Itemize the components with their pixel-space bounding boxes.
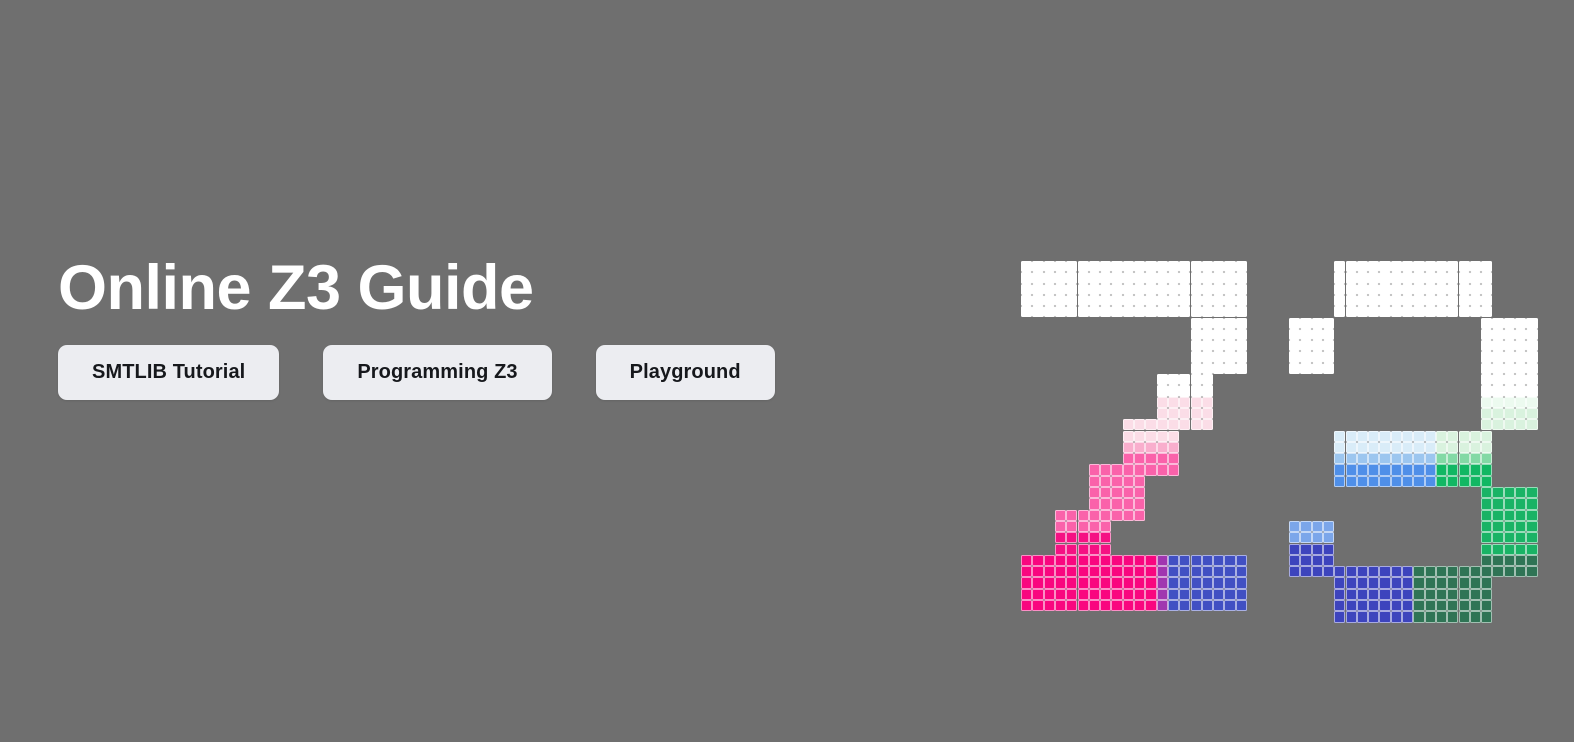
logo-pixel	[1066, 555, 1077, 566]
logo-pixel	[1436, 611, 1447, 622]
logo-pixel	[1191, 374, 1202, 385]
logo-pixel	[1436, 566, 1447, 577]
logo-pixel	[1481, 306, 1492, 317]
logo-pixel	[1492, 408, 1503, 419]
logo-pixel	[1157, 566, 1168, 577]
logo-pixel	[1413, 272, 1424, 283]
logo-pixel	[1236, 340, 1247, 351]
logo-pixel	[1391, 442, 1402, 453]
logo-pixel	[1168, 408, 1179, 419]
logo-pixel	[1504, 329, 1515, 340]
logo-pixel	[1168, 385, 1179, 396]
logo-pixel	[1123, 464, 1134, 475]
logo-pixel	[1515, 555, 1526, 566]
logo-pixel	[1044, 555, 1055, 566]
logo-pixel	[1145, 555, 1156, 566]
logo-pixel	[1123, 261, 1134, 272]
logo-pixel	[1526, 385, 1537, 396]
logo-pixel	[1123, 577, 1134, 588]
logo-pixel	[1134, 555, 1145, 566]
logo-pixel	[1066, 577, 1077, 588]
logo-pixel	[1289, 363, 1300, 374]
logo-pixel	[1236, 318, 1247, 329]
logo-pixel	[1168, 306, 1179, 317]
logo-pixel	[1526, 498, 1537, 509]
logo-pixel	[1481, 329, 1492, 340]
logo-pixel	[1504, 318, 1515, 329]
logo-pixel	[1357, 577, 1368, 588]
logo-pixel	[1111, 272, 1122, 283]
logo-pixel	[1066, 295, 1077, 306]
logo-pixel	[1236, 577, 1247, 588]
playground-button[interactable]: Playground	[596, 345, 775, 400]
logo-pixel	[1492, 329, 1503, 340]
logo-pixel	[1312, 532, 1323, 543]
logo-pixel	[1168, 464, 1179, 475]
logo-pixel	[1504, 374, 1515, 385]
logo-pixel	[1515, 363, 1526, 374]
logo-pixel	[1300, 340, 1311, 351]
logo-pixel	[1078, 577, 1089, 588]
logo-pixel	[1459, 295, 1470, 306]
logo-pixel	[1134, 498, 1145, 509]
logo-pixel	[1481, 589, 1492, 600]
logo-pixel	[1111, 510, 1122, 521]
logo-pixel	[1368, 577, 1379, 588]
logo-pixel	[1436, 577, 1447, 588]
logo-pixel	[1168, 419, 1179, 430]
logo-pixel	[1157, 577, 1168, 588]
logo-pixel	[1436, 600, 1447, 611]
logo-pixel	[1157, 555, 1168, 566]
logo-pixel	[1078, 284, 1089, 295]
logo-pixel	[1481, 544, 1492, 555]
logo-pixel	[1368, 284, 1379, 295]
logo-pixel	[1379, 476, 1390, 487]
logo-pixel	[1346, 306, 1357, 317]
logo-pixel	[1157, 397, 1168, 408]
logo-pixel	[1436, 476, 1447, 487]
logo-pixel	[1312, 340, 1323, 351]
logo-pixel	[1157, 431, 1168, 442]
logo-pixel	[1066, 566, 1077, 577]
logo-pixel	[1145, 589, 1156, 600]
logo-pixel	[1168, 374, 1179, 385]
logo-pixel	[1470, 589, 1481, 600]
logo-pixel	[1191, 589, 1202, 600]
logo-pixel	[1379, 577, 1390, 588]
logo-pixel	[1123, 306, 1134, 317]
logo-pixel	[1368, 453, 1379, 464]
logo-pixel	[1515, 351, 1526, 362]
logo-pixel	[1224, 555, 1235, 566]
logo-pixel	[1191, 306, 1202, 317]
logo-pixel	[1145, 566, 1156, 577]
logo-pixel	[1179, 306, 1190, 317]
logo-pixel	[1357, 284, 1368, 295]
logo-pixel	[1111, 555, 1122, 566]
logo-pixel	[1134, 589, 1145, 600]
logo-pixel	[1323, 318, 1334, 329]
logo-pixel	[1312, 318, 1323, 329]
logo-pixel	[1179, 555, 1190, 566]
logo-pixel	[1526, 363, 1537, 374]
logo-pixel	[1379, 453, 1390, 464]
logo-pixel	[1157, 272, 1168, 283]
logo-pixel	[1021, 555, 1032, 566]
logo-pixel	[1157, 464, 1168, 475]
logo-pixel	[1078, 555, 1089, 566]
logo-pixel	[1032, 555, 1043, 566]
logo-pixel	[1145, 600, 1156, 611]
logo-pixel	[1089, 544, 1100, 555]
logo-pixel	[1224, 284, 1235, 295]
logo-pixel	[1447, 442, 1458, 453]
logo-pixel	[1436, 272, 1447, 283]
logo-pixel	[1402, 589, 1413, 600]
logo-pixel	[1334, 261, 1345, 272]
logo-pixel	[1481, 464, 1492, 475]
logo-pixel	[1447, 589, 1458, 600]
logo-pixel	[1391, 600, 1402, 611]
logo-pixel	[1111, 566, 1122, 577]
logo-pixel	[1236, 589, 1247, 600]
logo-pixel	[1492, 363, 1503, 374]
logo-pixel	[1168, 397, 1179, 408]
logo-pixel	[1515, 397, 1526, 408]
logo-pixel	[1055, 566, 1066, 577]
logo-pixel	[1357, 600, 1368, 611]
logo-pixel	[1202, 363, 1213, 374]
logo-pixel	[1300, 329, 1311, 340]
logo-pixel	[1357, 453, 1368, 464]
logo-pixel	[1066, 589, 1077, 600]
logo-pixel	[1402, 295, 1413, 306]
logo-pixel	[1357, 295, 1368, 306]
logo-pixel	[1134, 566, 1145, 577]
logo-pixel	[1078, 295, 1089, 306]
logo-pixel	[1459, 600, 1470, 611]
logo-pixel	[1504, 544, 1515, 555]
logo-pixel	[1123, 453, 1134, 464]
logo-pixel	[1459, 431, 1470, 442]
logo-pixel	[1379, 600, 1390, 611]
logo-pixel	[1425, 600, 1436, 611]
logo-pixel	[1289, 329, 1300, 340]
z3-pixel-logo	[1021, 261, 1521, 581]
logo-pixel	[1492, 532, 1503, 543]
logo-pixel	[1021, 600, 1032, 611]
logo-pixel	[1202, 419, 1213, 430]
logo-pixel	[1289, 521, 1300, 532]
logo-pixel	[1481, 408, 1492, 419]
logo-pixel	[1459, 442, 1470, 453]
logo-pixel	[1100, 487, 1111, 498]
logo-pixel	[1515, 385, 1526, 396]
logo-pixel	[1300, 555, 1311, 566]
logo-pixel	[1368, 464, 1379, 475]
logo-pixel	[1526, 329, 1537, 340]
logo-pixel	[1111, 464, 1122, 475]
logo-pixel	[1179, 284, 1190, 295]
logo-pixel	[1089, 261, 1100, 272]
logo-pixel	[1236, 600, 1247, 611]
logo-pixel	[1323, 555, 1334, 566]
logo-pixel	[1224, 577, 1235, 588]
logo-pixel	[1391, 611, 1402, 622]
logo-pixel	[1346, 476, 1357, 487]
logo-pixel	[1055, 577, 1066, 588]
logo-pixel	[1413, 464, 1424, 475]
logo-pixel	[1391, 453, 1402, 464]
logo-pixel	[1447, 453, 1458, 464]
logo-pixel	[1504, 419, 1515, 430]
logo-pixel	[1213, 577, 1224, 588]
logo-pixel	[1459, 589, 1470, 600]
logo-pixel	[1504, 351, 1515, 362]
logo-pixel	[1100, 476, 1111, 487]
logo-pixel	[1055, 284, 1066, 295]
logo-pixel	[1425, 261, 1436, 272]
logo-pixel	[1179, 419, 1190, 430]
logo-pixel	[1202, 374, 1213, 385]
logo-pixel	[1425, 566, 1436, 577]
logo-pixel	[1459, 566, 1470, 577]
logo-pixel	[1123, 498, 1134, 509]
logo-pixel	[1236, 351, 1247, 362]
logo-pixel	[1123, 419, 1134, 430]
logo-pixel	[1481, 555, 1492, 566]
logo-pixel	[1357, 566, 1368, 577]
logo-pixel	[1224, 566, 1235, 577]
logo-pixel	[1312, 329, 1323, 340]
logo-pixel	[1459, 453, 1470, 464]
logo-pixel	[1323, 340, 1334, 351]
logo-pixel	[1213, 589, 1224, 600]
logo-pixel	[1334, 306, 1345, 317]
page-title: Online Z3 Guide	[58, 255, 958, 321]
logo-pixel	[1123, 476, 1134, 487]
logo-pixel	[1055, 555, 1066, 566]
logo-pixel	[1055, 272, 1066, 283]
logo-pixel	[1078, 544, 1089, 555]
logo-pixel	[1515, 419, 1526, 430]
logo-pixel	[1436, 431, 1447, 442]
logo-pixel	[1526, 521, 1537, 532]
logo-pixel	[1481, 498, 1492, 509]
logo-pixel	[1089, 464, 1100, 475]
logo-pixel	[1202, 351, 1213, 362]
logo-pixel	[1459, 464, 1470, 475]
logo-pixel	[1213, 351, 1224, 362]
logo-pixel	[1134, 476, 1145, 487]
logo-pixel	[1379, 611, 1390, 622]
logo-pixel	[1089, 487, 1100, 498]
logo-pixel	[1179, 295, 1190, 306]
logo-pixel	[1459, 577, 1470, 588]
logo-pixel	[1481, 419, 1492, 430]
logo-pixel	[1202, 340, 1213, 351]
logo-pixel	[1379, 442, 1390, 453]
logo-pixel	[1526, 351, 1537, 362]
logo-pixel	[1157, 589, 1168, 600]
logo-pixel	[1191, 295, 1202, 306]
logo-pixel	[1157, 453, 1168, 464]
logo-pixel	[1111, 589, 1122, 600]
logo-pixel	[1168, 555, 1179, 566]
logo-pixel	[1100, 532, 1111, 543]
programming-z3-button[interactable]: Programming Z3	[323, 345, 551, 400]
logo-pixel	[1346, 261, 1357, 272]
logo-pixel	[1504, 385, 1515, 396]
logo-pixel	[1492, 555, 1503, 566]
logo-pixel	[1213, 329, 1224, 340]
logo-pixel	[1492, 340, 1503, 351]
logo-pixel	[1134, 431, 1145, 442]
logo-pixel	[1391, 284, 1402, 295]
logo-pixel	[1470, 600, 1481, 611]
logo-pixel	[1100, 521, 1111, 532]
logo-pixel	[1123, 566, 1134, 577]
logo-pixel	[1413, 453, 1424, 464]
logo-pixel	[1179, 600, 1190, 611]
logo-pixel	[1346, 272, 1357, 283]
logo-pixel	[1044, 589, 1055, 600]
logo-pixel	[1526, 397, 1537, 408]
logo-pixel	[1391, 261, 1402, 272]
logo-pixel	[1055, 295, 1066, 306]
logo-pixel	[1100, 272, 1111, 283]
logo-pixel	[1168, 261, 1179, 272]
logo-pixel	[1078, 589, 1089, 600]
logo-pixel	[1492, 419, 1503, 430]
logo-pixel	[1515, 340, 1526, 351]
logo-pixel	[1224, 363, 1235, 374]
logo-pixel	[1100, 295, 1111, 306]
logo-pixel	[1447, 611, 1458, 622]
logo-pixel	[1481, 577, 1492, 588]
logo-pixel	[1459, 611, 1470, 622]
logo-pixel	[1402, 611, 1413, 622]
logo-pixel	[1346, 577, 1357, 588]
logo-pixel	[1021, 295, 1032, 306]
logo-pixel	[1481, 385, 1492, 396]
logo-pixel	[1111, 295, 1122, 306]
logo-pixel	[1425, 464, 1436, 475]
logo-pixel	[1100, 566, 1111, 577]
logo-pixel	[1111, 498, 1122, 509]
logo-pixel	[1368, 589, 1379, 600]
logo-pixel	[1202, 397, 1213, 408]
logo-pixel	[1492, 318, 1503, 329]
logo-pixel	[1470, 431, 1481, 442]
logo-pixel	[1191, 318, 1202, 329]
logo-pixel	[1357, 476, 1368, 487]
logo-pixel	[1202, 566, 1213, 577]
logo-pixel	[1312, 363, 1323, 374]
logo-pixel	[1481, 566, 1492, 577]
logo-pixel	[1168, 442, 1179, 453]
logo-pixel	[1447, 272, 1458, 283]
logo-pixel	[1368, 566, 1379, 577]
logo-pixel	[1179, 261, 1190, 272]
logo-pixel	[1504, 487, 1515, 498]
logo-pixel	[1391, 431, 1402, 442]
logo-pixel	[1213, 295, 1224, 306]
logo-pixel	[1236, 306, 1247, 317]
logo-pixel	[1032, 577, 1043, 588]
logo-pixel	[1402, 306, 1413, 317]
logo-pixel	[1202, 589, 1213, 600]
logo-pixel	[1100, 306, 1111, 317]
logo-pixel	[1032, 589, 1043, 600]
logo-pixel	[1100, 284, 1111, 295]
logo-pixel	[1504, 510, 1515, 521]
logo-pixel	[1312, 351, 1323, 362]
logo-pixel	[1179, 272, 1190, 283]
logo-pixel	[1300, 532, 1311, 543]
logo-pixel	[1413, 295, 1424, 306]
logo-pixel	[1123, 510, 1134, 521]
logo-pixel	[1425, 476, 1436, 487]
logo-pixel	[1168, 453, 1179, 464]
logo-pixel	[1021, 306, 1032, 317]
logo-pixel	[1492, 385, 1503, 396]
logo-pixel	[1066, 532, 1077, 543]
logo-pixel	[1191, 284, 1202, 295]
logo-pixel	[1032, 261, 1043, 272]
logo-pixel	[1368, 306, 1379, 317]
logo-pixel	[1066, 510, 1077, 521]
logo-pixel	[1334, 566, 1345, 577]
logo-pixel	[1111, 476, 1122, 487]
logo-pixel	[1481, 611, 1492, 622]
logo-pixel	[1157, 284, 1168, 295]
logo-pixel	[1346, 284, 1357, 295]
logo-pixel	[1481, 600, 1492, 611]
logo-pixel	[1357, 464, 1368, 475]
logo-pixel	[1289, 340, 1300, 351]
logo-pixel	[1157, 600, 1168, 611]
logo-pixel	[1379, 306, 1390, 317]
logo-pixel	[1425, 453, 1436, 464]
logo-pixel	[1481, 532, 1492, 543]
logo-pixel	[1191, 408, 1202, 419]
logo-pixel	[1168, 589, 1179, 600]
logo-pixel	[1459, 476, 1470, 487]
logo-pixel	[1526, 544, 1537, 555]
logo-pixel	[1470, 295, 1481, 306]
logo-pixel	[1157, 408, 1168, 419]
logo-pixel	[1134, 600, 1145, 611]
smtlib-tutorial-button[interactable]: SMTLIB Tutorial	[58, 345, 279, 400]
logo-pixel	[1515, 498, 1526, 509]
logo-pixel	[1100, 600, 1111, 611]
logo-pixel	[1134, 306, 1145, 317]
logo-pixel	[1191, 385, 1202, 396]
logo-pixel	[1402, 600, 1413, 611]
logo-pixel	[1123, 442, 1134, 453]
logo-pixel	[1202, 295, 1213, 306]
logo-pixel	[1168, 566, 1179, 577]
logo-pixel	[1334, 600, 1345, 611]
logo-pixel	[1425, 611, 1436, 622]
logo-pixel	[1357, 442, 1368, 453]
logo-pixel	[1481, 284, 1492, 295]
logo-pixel	[1402, 284, 1413, 295]
logo-pixel	[1179, 577, 1190, 588]
logo-pixel	[1213, 261, 1224, 272]
